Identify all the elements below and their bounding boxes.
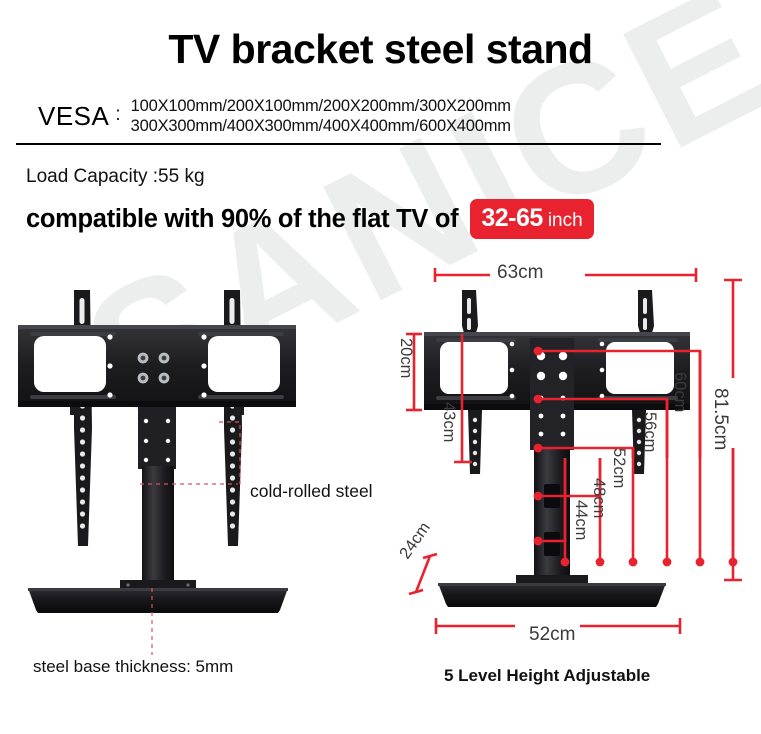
compatibility-row: compatible with 90% of the flat TV of 32… [26, 199, 594, 239]
right-dimension-overlay [380, 250, 761, 670]
load-capacity-text: Load Capacity :55 kg [26, 166, 205, 188]
left-callout-lines [0, 280, 400, 680]
product-infographic: SANICE TV bracket steel stand VESA : 100… [0, 0, 761, 734]
dim-bracket-inner-height: 20cm [415, 338, 455, 357]
dim-base-width: 52cm [529, 624, 575, 646]
header-divider [16, 143, 661, 145]
vesa-colon: : [115, 104, 120, 128]
vesa-row: VESA : 100X100mm/200X100mm/200X200mm/300… [38, 96, 678, 136]
size-badge: 32-65 inch [470, 199, 593, 239]
vesa-label: VESA [38, 101, 109, 132]
dim-total-height: 81.5cm [731, 388, 761, 410]
dim-level-56: 56cm [659, 412, 699, 431]
page-title: TV bracket steel stand [0, 26, 761, 73]
callout-base-thickness: steel base thickness: 5mm [33, 657, 233, 677]
callout-cold-rolled-steel: cold-rolled steel [250, 481, 373, 502]
badge-size-range: 32-65 [481, 204, 542, 233]
vesa-line-2: 300X300mm/400X300mm/400X400mm/600X400mm [131, 117, 511, 135]
dim-base-depth: 24cm [396, 552, 436, 571]
compatibility-text: compatible with 90% of the flat TV of [26, 205, 458, 234]
dim-level-60: 60cm [689, 372, 729, 391]
dim-bracket-outer-height: 43cm [458, 402, 498, 421]
vesa-values: 100X100mm/200X100mm/200X200mm/300X200mm … [131, 96, 511, 136]
vesa-line-1: 100X100mm/200X100mm/200X200mm/300X200mm [131, 97, 511, 115]
dim-width-top: 63cm [497, 262, 543, 284]
badge-size-unit: inch [548, 210, 583, 232]
